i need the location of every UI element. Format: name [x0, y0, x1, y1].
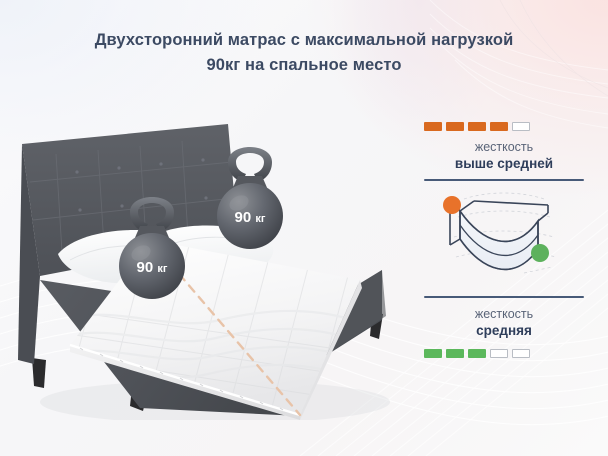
- firmness-segment: [468, 122, 486, 131]
- firmness-scale-bottom: [424, 349, 584, 358]
- bottom-firmness-marker: [531, 244, 549, 262]
- firmness-label-top: жесткость выше средней: [424, 140, 584, 172]
- firmness-segment: [512, 122, 530, 131]
- firmness-panel-top: жесткость выше средней: [424, 122, 584, 287]
- firmness-panel-bottom: жесткость средняя: [424, 296, 584, 358]
- top-firmness-marker: [443, 196, 461, 214]
- page-title: Двухсторонний матрас с максимальной нагр…: [0, 28, 608, 78]
- firmness-label-bottom: жесткость средняя: [424, 307, 584, 339]
- firmness-segment: [490, 122, 508, 131]
- title-line-1: Двухсторонний матрас с максимальной нагр…: [95, 31, 514, 49]
- firmness-segment: [468, 349, 486, 358]
- mattress-layers-icon: [428, 187, 584, 287]
- firmness-segment: [424, 349, 442, 358]
- promo-banner: Двухсторонний матрас с максимальной нагр…: [0, 0, 608, 456]
- title-line-2: 90кг на спальное место: [206, 56, 401, 74]
- firmness-scale-top: [424, 122, 584, 131]
- firmness-value-bottom: средняя: [424, 322, 584, 339]
- firmness-segment: [490, 349, 508, 358]
- firmness-segment: [424, 122, 442, 131]
- firmness-value-top: выше средней: [424, 155, 584, 172]
- divider-top: [424, 179, 584, 181]
- firmness-segment: [446, 349, 464, 358]
- firmness-caption-top: жесткость: [424, 140, 584, 155]
- firmness-segment: [512, 349, 530, 358]
- firmness-caption-bottom: жесткость: [424, 307, 584, 322]
- firmness-segment: [446, 122, 464, 131]
- divider-bottom: [424, 296, 584, 298]
- bed-illustration: 90 кг 90 кг: [0, 120, 420, 420]
